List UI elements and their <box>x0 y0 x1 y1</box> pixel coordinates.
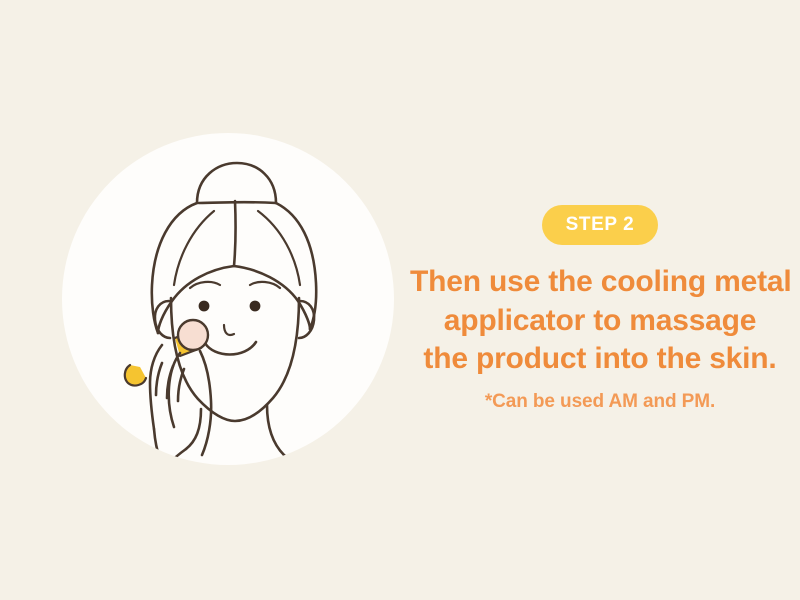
hairline-top-band <box>199 202 276 203</box>
eyebrow-right <box>250 282 280 288</box>
headline-line-1: Then use the cooling metal <box>410 263 790 302</box>
headline: Then use the cooling metal applicator to… <box>410 263 790 379</box>
finger-four <box>178 369 184 401</box>
eyebrow-left <box>190 282 220 288</box>
eye-right <box>250 301 261 312</box>
shoulder-left <box>156 449 186 465</box>
mouth-smile <box>205 342 256 355</box>
woman-applying-product-illustration <box>62 133 394 465</box>
nose <box>224 325 234 335</box>
footnote: *Can be used AM and PM. <box>410 391 790 413</box>
eye-left <box>199 301 210 312</box>
shoulder-right <box>284 455 320 465</box>
finger-two <box>156 363 162 395</box>
neck-right <box>267 405 284 455</box>
face-outline <box>171 298 299 421</box>
step-instruction-card: STEP 2 Then use the cooling metal applic… <box>0 0 800 600</box>
neck-left <box>186 409 201 449</box>
wrist-left <box>154 429 160 459</box>
applicator-metal-ball <box>178 320 208 350</box>
text-panel: STEP 2 Then use the cooling metal applic… <box>410 205 790 413</box>
hair-bun <box>197 163 276 203</box>
headline-line-2: applicator to massage <box>410 302 790 341</box>
step-badge: STEP 2 <box>542 205 659 245</box>
headline-line-3: the product into the skin. <box>410 340 790 379</box>
hair-center-part <box>234 201 236 266</box>
illustration-panel <box>62 133 394 465</box>
hair-outline-left <box>152 203 197 333</box>
